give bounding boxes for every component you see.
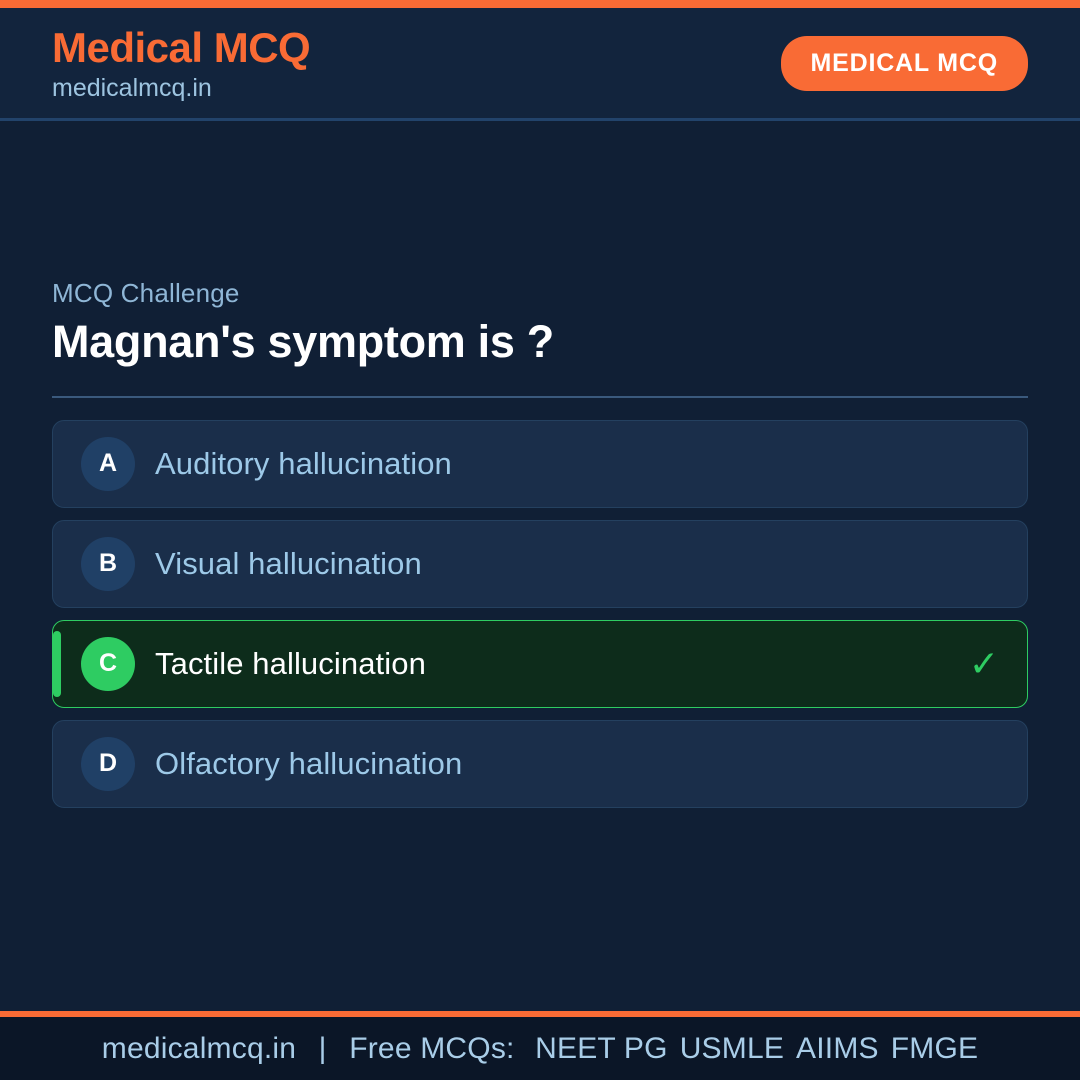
- footer-exam-aiims[interactable]: AIIMS: [784, 1032, 879, 1065]
- question-text: Magnan's symptom is ?: [52, 316, 1028, 368]
- option-key-badge: C: [81, 637, 135, 691]
- footer-separator: |: [305, 1032, 341, 1065]
- option-label: Olfactory hallucination: [155, 746, 953, 782]
- option-label: Auditory hallucination: [155, 446, 953, 482]
- footer-text: medicalmcq.in | Free MCQs: NEET PGUSMLEA…: [102, 1032, 978, 1066]
- brand-title: Medical MCQ: [52, 26, 310, 70]
- options-list: AAuditory hallucination✓BVisual hallucin…: [52, 420, 1028, 808]
- footer-exam-list: NEET PGUSMLEAIIMSFMGE: [523, 1032, 978, 1065]
- option-key-badge: D: [81, 737, 135, 791]
- footer-exam-neet-pg[interactable]: NEET PG: [523, 1032, 668, 1065]
- question-block: MCQ Challenge Magnan's symptom is ? AAud…: [52, 278, 1028, 808]
- header-badge: MEDICAL MCQ: [781, 36, 1029, 91]
- option-label: Visual hallucination: [155, 546, 953, 582]
- mcq-card: Medical MCQ medicalmcq.in MEDICAL MCQ MC…: [0, 0, 1080, 1080]
- option-label: Tactile hallucination: [155, 646, 953, 682]
- option-b[interactable]: BVisual hallucination✓: [52, 520, 1028, 608]
- question-divider: [52, 396, 1028, 398]
- top-accent-bar: [0, 0, 1080, 8]
- kicker-label: MCQ Challenge: [52, 278, 1028, 309]
- footer-site[interactable]: medicalmcq.in: [102, 1032, 296, 1065]
- option-c[interactable]: CTactile hallucination✓: [52, 620, 1028, 708]
- correct-check-icon: ✓: [969, 646, 999, 682]
- footer: medicalmcq.in | Free MCQs: NEET PGUSMLEA…: [0, 1017, 1080, 1080]
- option-key-badge: A: [81, 437, 135, 491]
- option-d[interactable]: DOlfactory hallucination✓: [52, 720, 1028, 808]
- brand-block: Medical MCQ medicalmcq.in: [52, 22, 310, 105]
- footer-exam-fmge[interactable]: FMGE: [879, 1032, 978, 1065]
- brand-url: medicalmcq.in: [52, 72, 310, 105]
- header: Medical MCQ medicalmcq.in MEDICAL MCQ: [0, 8, 1080, 121]
- footer-exam-usmle[interactable]: USMLE: [668, 1032, 784, 1065]
- option-key-badge: B: [81, 537, 135, 591]
- main-content: MCQ Challenge Magnan's symptom is ? AAud…: [0, 121, 1080, 1011]
- footer-exams-label: Free MCQs:: [349, 1032, 514, 1065]
- option-a[interactable]: AAuditory hallucination✓: [52, 420, 1028, 508]
